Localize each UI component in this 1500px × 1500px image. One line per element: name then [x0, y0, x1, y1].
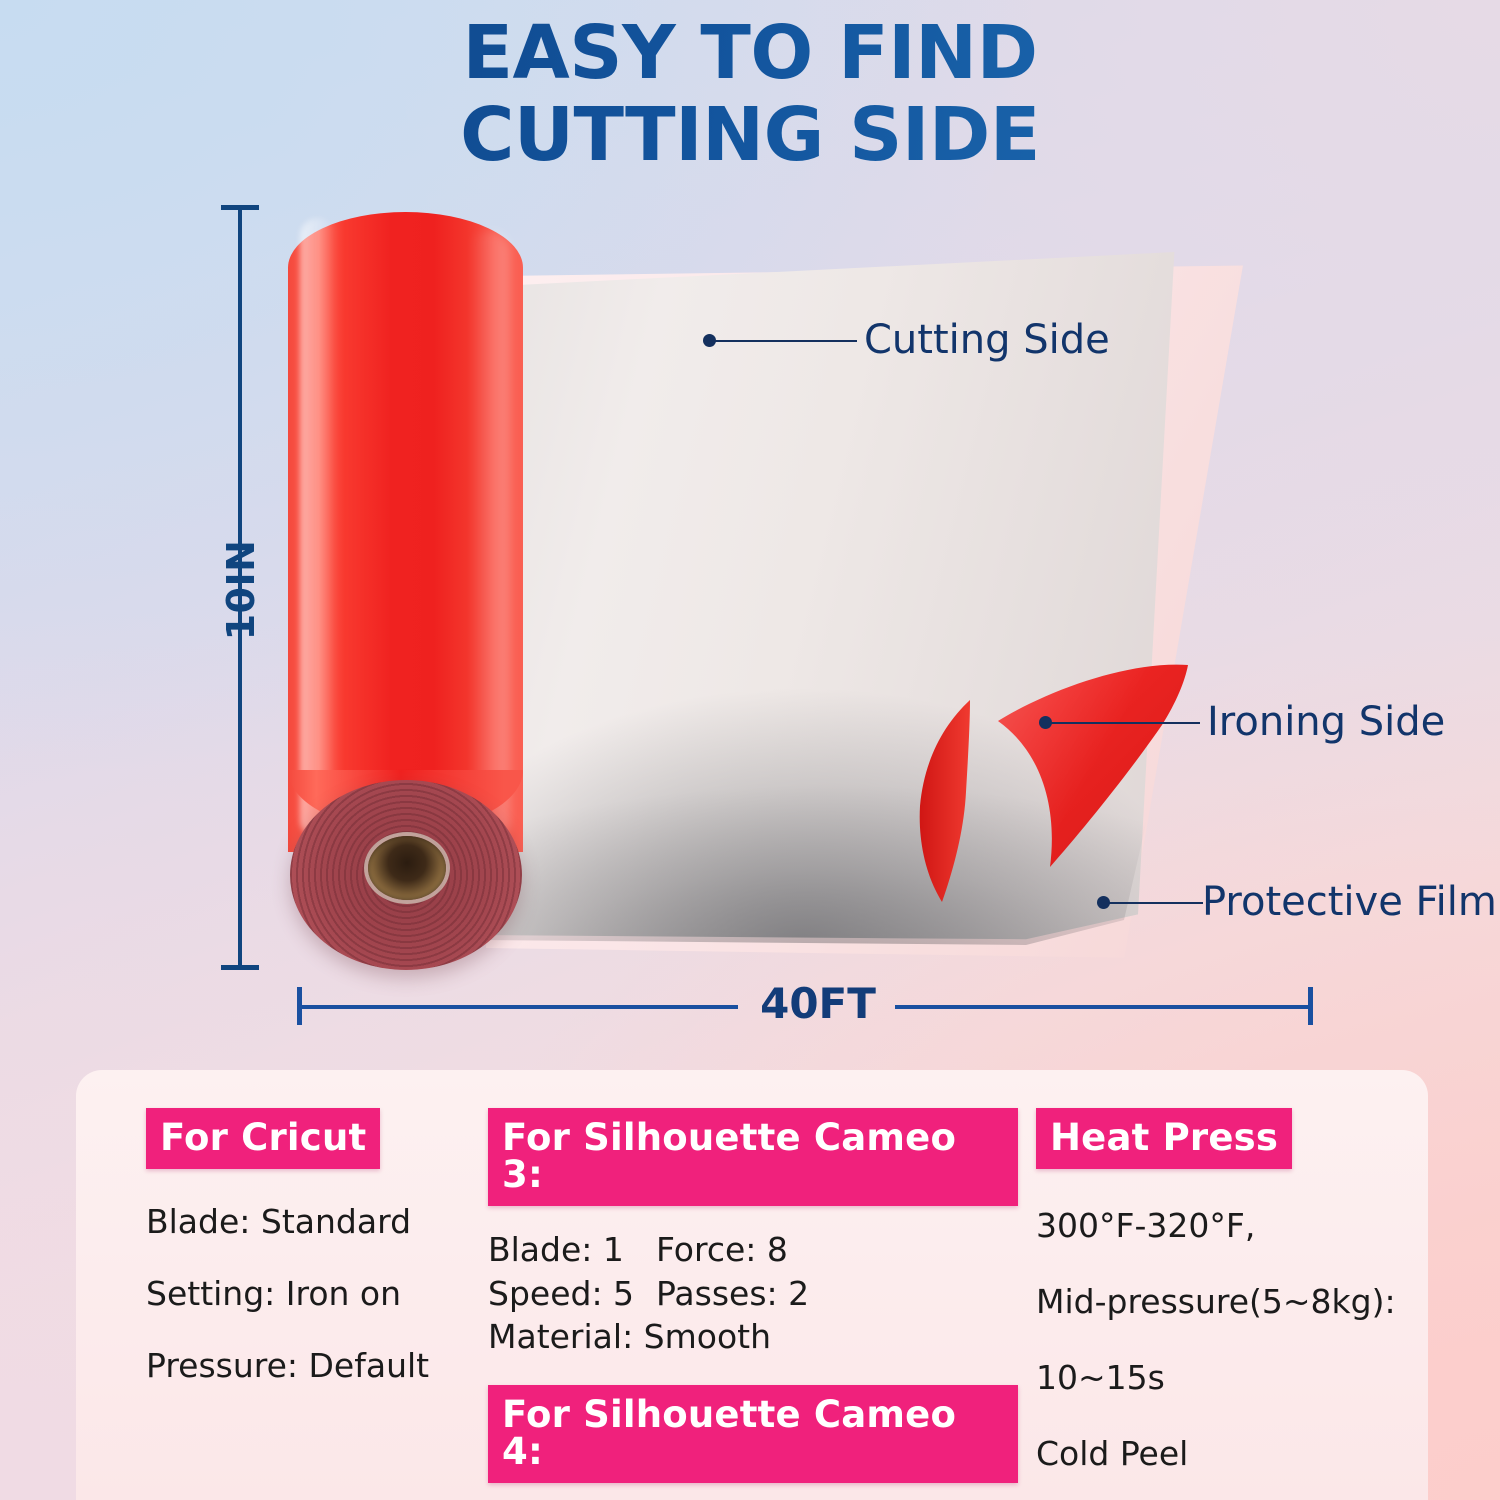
heatpress-peel: Cold Peel [1036, 1434, 1416, 1473]
cameo3-row-3: Material: Smooth [488, 1315, 1018, 1359]
cameo3-passes: Passes: 2 [656, 1272, 809, 1316]
cricut-badge: For Cricut [146, 1108, 380, 1169]
cameo3-badge: For Silhouette Cameo 3: [488, 1108, 1018, 1206]
cameo3-row-1: Blade: 1 Force: 8 [488, 1228, 1018, 1272]
cameo3-material: Material: Smooth [488, 1315, 771, 1359]
cricut-pressure: Pressure: Default [146, 1346, 476, 1385]
cameo3-blade: Blade: 1 [488, 1228, 656, 1272]
heatpress-column: Heat Press 300°F-320°F, Mid-pressure(5~8… [1018, 1070, 1416, 1500]
length-dimension-line-left [298, 1005, 738, 1009]
product-illustration: 10IN 40FT Cutting Side Ironing Side Prot… [0, 0, 1500, 1070]
length-dimension-cap-left [297, 987, 302, 1025]
cutting-side-callout-line [709, 340, 857, 342]
cameo3-specs: Blade: 1 Force: 8 Speed: 5 Passes: 2 Mat… [488, 1228, 1018, 1359]
cameo3-row-2: Speed: 5 Passes: 2 [488, 1272, 1018, 1316]
length-dimension-cap-right [1308, 987, 1313, 1025]
cricut-setting: Setting: Iron on [146, 1274, 476, 1313]
cricut-column: For Cricut Blade: Standard Setting: Iron… [76, 1070, 476, 1500]
silhouette-column: For Silhouette Cameo 3: Blade: 1 Force: … [476, 1070, 1018, 1500]
width-dimension-cap-top [221, 205, 259, 210]
cutting-side-callout-label: Cutting Side [864, 317, 1110, 363]
heatpress-badge: Heat Press [1036, 1108, 1292, 1169]
ironing-side-callout-line [1045, 722, 1200, 724]
ironing-side-callout-label: Ironing Side [1207, 699, 1445, 745]
length-dimension-line-right [895, 1005, 1313, 1009]
protective-film-callout-line [1103, 902, 1203, 904]
vinyl-roll-cardboard-core [368, 836, 446, 900]
cameo4-badge: For Silhouette Cameo 4: [488, 1385, 1018, 1483]
protective-film-callout-label: Protective Film [1202, 879, 1497, 925]
heatpress-temperature: 300°F-320°F, [1036, 1206, 1416, 1245]
width-dimension-cap-bottom [221, 965, 259, 970]
heatpress-pressure: Mid-pressure(5~8kg): [1036, 1282, 1416, 1321]
settings-panel: For Cricut Blade: Standard Setting: Iron… [76, 1070, 1428, 1500]
vinyl-roll-highlight-right [470, 230, 510, 840]
cameo3-speed: Speed: 5 [488, 1272, 656, 1316]
cricut-blade: Blade: Standard [146, 1202, 476, 1241]
vinyl-roll-highlight-left [300, 218, 336, 838]
cameo3-force: Force: 8 [656, 1228, 788, 1272]
product-infographic: EASY TO FIND CUTTING SIDE 10IN 40FT Cutt… [0, 0, 1500, 1500]
length-dimension-label: 40FT [738, 979, 898, 1028]
heatpress-time: 10~15s [1036, 1358, 1416, 1397]
width-dimension-label: 10IN [181, 548, 301, 632]
